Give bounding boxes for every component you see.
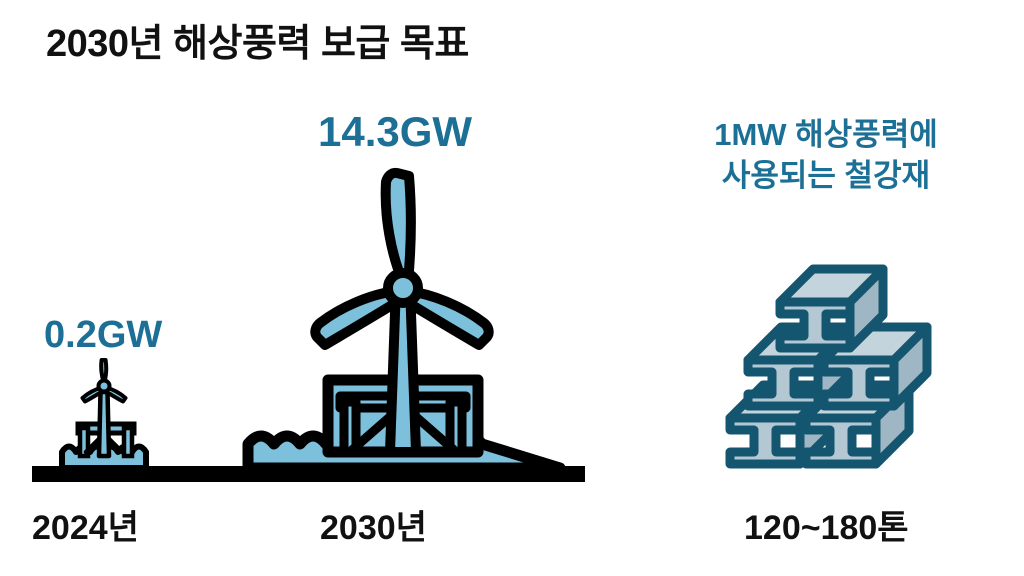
infographic-canvas: 2030년 해상풍력 보급 목표 0.2GW 14.3GW 1MW 해상풍력에 … [0,0,1024,576]
steel-amount-label: 120~180톤 [744,500,909,549]
rotor-hub-small [99,381,110,392]
tower-large [390,286,416,452]
rotor-hub-large [388,273,418,303]
tower-small [99,392,109,456]
year-label-2030: 2030년 [320,500,427,549]
steel-beam-top [780,269,883,348]
offshore-wind-turbine-small-icon [62,360,146,468]
offshore-wind-turbine-large-icon [248,173,560,468]
steel-beam-stack-icon [730,269,927,464]
year-label-2024: 2024년 [32,500,139,549]
blade-upper-large [386,173,411,282]
platform-leg-right-small [124,428,132,456]
infographic-artwork [0,0,1024,576]
